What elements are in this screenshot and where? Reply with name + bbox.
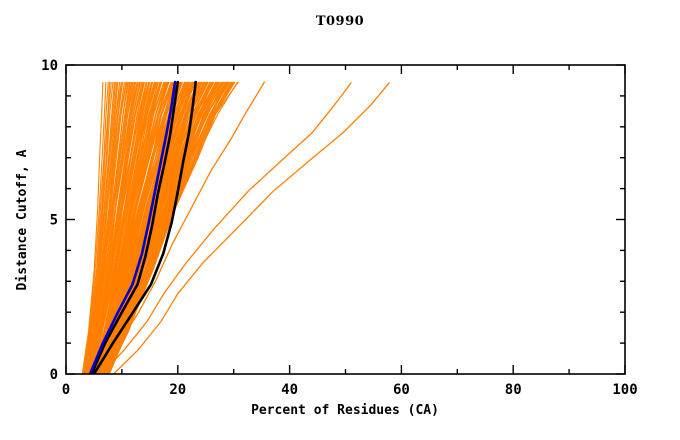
x-tick-labels: 020406080100: [62, 382, 638, 398]
y-tick-label: 10: [41, 58, 58, 74]
x-axis-label: Percent of Residues (CA): [251, 403, 439, 418]
plot-area: 020406080100 0510 Percent of Residues (C…: [0, 0, 680, 440]
y-tick-labels: 0510: [41, 58, 58, 383]
y-tick-label: 0: [50, 367, 58, 383]
x-tick-label: 60: [393, 382, 410, 398]
chart-canvas: T0990 020406080100 0510 Percent of Resid…: [0, 0, 680, 440]
x-tick-label: 100: [612, 382, 637, 398]
x-tick-label: 20: [169, 382, 186, 398]
x-tick-label: 80: [505, 382, 522, 398]
x-tick-label: 40: [281, 382, 298, 398]
x-tick-label: 0: [62, 382, 70, 398]
y-axis-label: Distance Cutoff, A: [15, 149, 30, 290]
y-tick-label: 5: [50, 213, 58, 229]
